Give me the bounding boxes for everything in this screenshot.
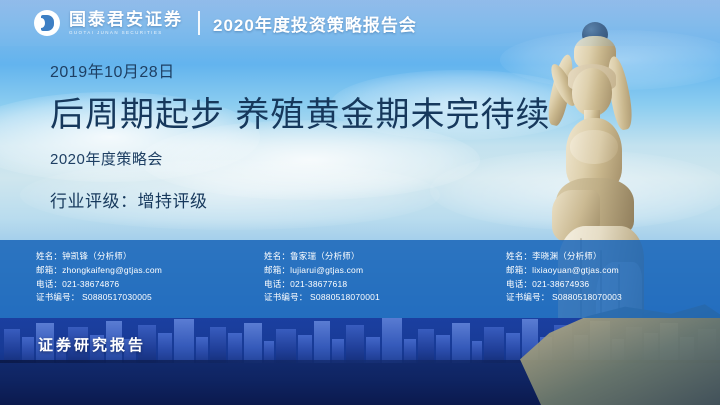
brand-name-cn: 国泰君安证券 [69, 11, 183, 29]
presentation-slide: 国泰君安证券 GUOTAI JUNAN SECURITIES 2020年度投资策… [0, 0, 720, 405]
analyst-cert: 证书编号： S0880518070001 [264, 291, 478, 305]
analyst-card: 姓名：钟凯锋（分析师） 邮箱：zhongkaifeng@gtjas.com 电话… [0, 240, 250, 318]
analyst-card: 姓名：李晓渊（分析师） 邮箱：lixiaoyuan@gtjas.com 电话：0… [478, 240, 720, 318]
analyst-name: 姓名：钟凯锋（分析师） [36, 250, 250, 264]
building [436, 335, 450, 363]
header-divider [198, 11, 200, 35]
analyst-cert: 证书编号： S0880518070003 [506, 291, 720, 305]
building [244, 323, 262, 363]
building [298, 335, 312, 363]
building [382, 318, 402, 363]
building [484, 327, 504, 363]
slide-header: 国泰君安证券 GUOTAI JUNAN SECURITIES 2020年度投资策… [0, 0, 720, 46]
analyst-phone[interactable]: 电话：021-38677618 [264, 278, 478, 292]
header-title: 2020年度投资策略报告会 [213, 11, 417, 36]
building [276, 329, 296, 363]
analyst-card: 姓名：鲁家瑞（分析师） 邮箱：lujiarui@gtjas.com 电话：021… [250, 240, 478, 318]
analyst-email[interactable]: 邮箱：lujiarui@gtjas.com [264, 264, 478, 278]
analyst-phone[interactable]: 电话：021-38674876 [36, 278, 250, 292]
brand-name-en: GUOTAI JUNAN SECURITIES [69, 30, 183, 35]
event-subtitle: 2020年度策略会 [50, 148, 570, 169]
analyst-name: 姓名：鲁家瑞（分析师） [264, 250, 478, 264]
publish-date: 2019年10月28日 [50, 58, 570, 82]
analyst-name: 姓名：李晓渊（分析师） [506, 250, 720, 264]
building [158, 333, 172, 363]
building [210, 327, 226, 363]
industry-rating: 行业评级：增持评级 [50, 187, 570, 212]
building [452, 323, 470, 363]
analyst-info-panel: 姓名：钟凯锋（分析师） 邮箱：zhongkaifeng@gtjas.com 电话… [0, 240, 720, 318]
analyst-phone[interactable]: 电话：021-38674936 [506, 278, 720, 292]
analyst-cert: 证书编号： S0880517030005 [36, 291, 250, 305]
building [174, 319, 194, 363]
building [418, 329, 434, 363]
analyst-email[interactable]: 邮箱：lixiaoyuan@gtjas.com [506, 264, 720, 278]
building [346, 325, 364, 363]
building [4, 329, 20, 363]
guotai-junan-logo-icon [34, 10, 60, 36]
page-title: 后周期起步 养殖黄金期未完待续 [50, 96, 570, 134]
title-block: 2019年10月28日 后周期起步 养殖黄金期未完待续 2020年度策略会 行业… [50, 58, 570, 212]
analyst-email[interactable]: 邮箱：zhongkaifeng@gtjas.com [36, 264, 250, 278]
building [314, 321, 330, 363]
report-type-label: 证券研究报告 [38, 334, 146, 355]
building [228, 333, 242, 363]
building [506, 333, 520, 363]
brand-logotype: 国泰君安证券 GUOTAI JUNAN SECURITIES [69, 11, 183, 35]
